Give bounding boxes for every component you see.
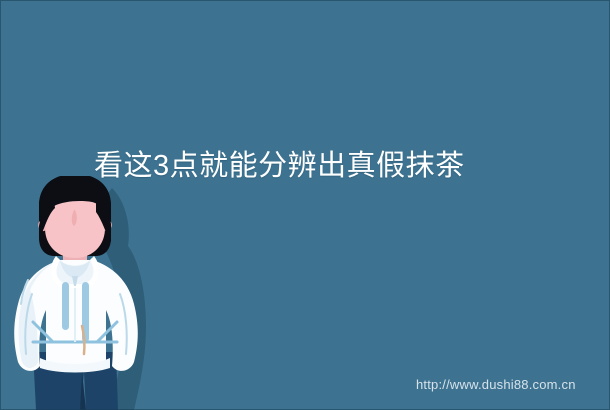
promo-banner: 看这3点就能分辨出真假抹茶 <box>0 0 610 410</box>
watermark-url: http://www.dushi88.com.cn <box>416 377 576 392</box>
page-title: 看这3点就能分辨出真假抹茶 <box>94 146 524 186</box>
person-illustration <box>0 176 150 410</box>
